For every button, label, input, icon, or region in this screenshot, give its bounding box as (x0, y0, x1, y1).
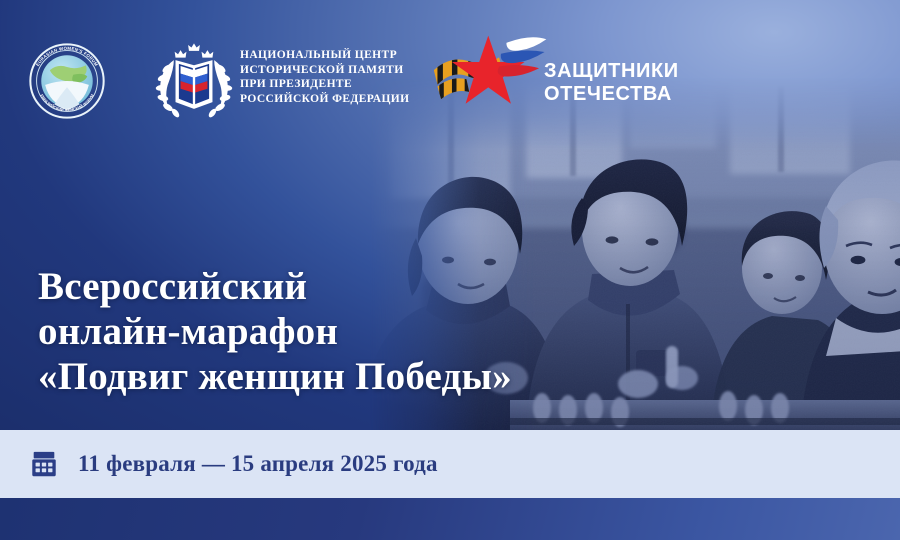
date-bar: 11 февраля — 15 апреля 2025 года (0, 430, 900, 498)
headline-line-2: онлайн-марафон (38, 309, 512, 354)
calendar-icon (29, 449, 59, 479)
headline-line-1: Всероссийский (38, 264, 512, 309)
event-banner: EURASIAN WOMEN'S FORUM ЕВРАЗИЙСКИЙ ЖЕНСК… (0, 0, 900, 540)
eurasian-womens-forum-emblem-icon: EURASIAN WOMEN'S FORUM ЕВРАЗИЙСКИЙ ЖЕНСК… (28, 42, 106, 120)
defenders-label: ЗАЩИТНИКИ ОТЕЧЕСТВА (544, 60, 679, 106)
headline-line-3: «Подвиг женщин Победы» (38, 354, 512, 399)
nc-line-1: НАЦИОНАЛЬНЫЙ ЦЕНТР (240, 48, 410, 63)
page-title: Всероссийский онлайн-марафон «Подвиг жен… (38, 264, 512, 399)
national-center-label: НАЦИОНАЛЬНЫЙ ЦЕНТР ИСТОРИЧЕСКОЙ ПАМЯТИ П… (240, 48, 410, 106)
event-dates: 11 февраля — 15 апреля 2025 года (78, 451, 438, 477)
nc-line-2: ИСТОРИЧЕСКОЙ ПАМЯТИ (240, 63, 410, 78)
bottom-strip (0, 498, 900, 540)
nc-line-3: ПРИ ПРЕЗИДЕНТЕ (240, 77, 410, 92)
eurasian-womens-forum-logo: EURASIAN WOMEN'S FORUM ЕВРАЗИЙСКИЙ ЖЕНСК… (28, 42, 106, 120)
book-laurel-crowns-emblem-icon (152, 40, 236, 121)
star-ribbon-tricolor-emblem-icon (432, 32, 550, 110)
zo-line-1: ЗАЩИТНИКИ (544, 60, 679, 83)
defenders-logo (432, 32, 550, 110)
national-center-logo (152, 40, 236, 120)
logo-row: EURASIAN WOMEN'S FORUM ЕВРАЗИЙСКИЙ ЖЕНСК… (0, 0, 900, 128)
zo-line-2: ОТЕЧЕСТВА (544, 83, 679, 106)
nc-line-4: РОССИЙСКОЙ ФЕДЕРАЦИИ (240, 92, 410, 107)
